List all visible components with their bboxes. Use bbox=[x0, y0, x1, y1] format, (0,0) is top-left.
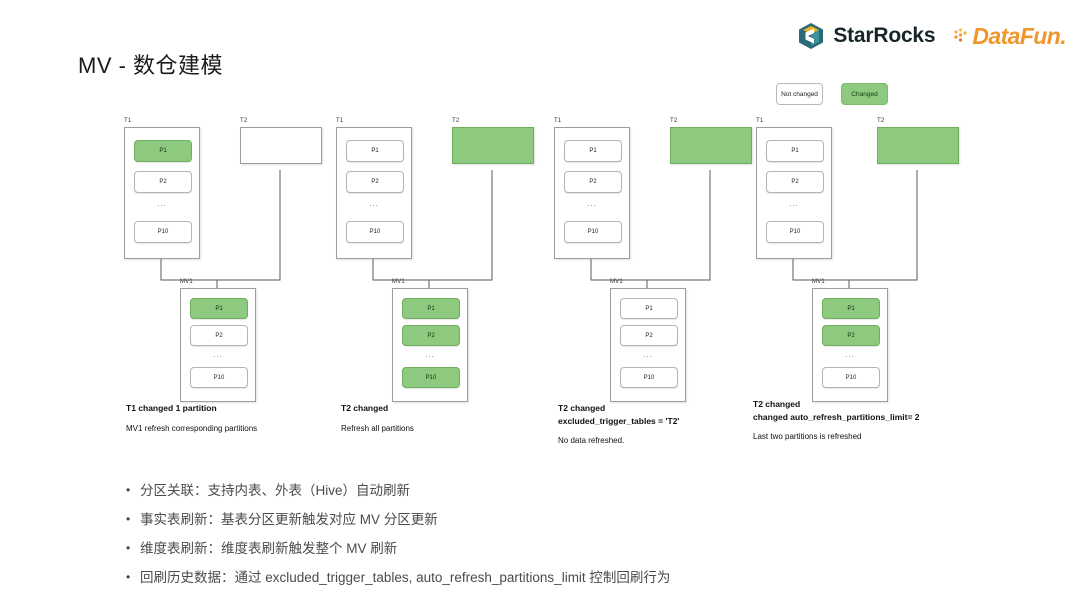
caption-sub-3: No data refreshed. bbox=[558, 436, 679, 445]
legend-changed: Changed bbox=[841, 83, 888, 105]
caption-3: T2 changed excluded_trigger_tables = 'T2… bbox=[558, 402, 679, 445]
t1-partition-p1-2: P1 bbox=[346, 140, 404, 162]
caption-title-line2-3: excluded_trigger_tables = 'T2' bbox=[558, 415, 679, 428]
caption-1: T1 changed 1 partition MV1 refresh corre… bbox=[126, 402, 257, 433]
diagram-panel-2: T1 P1 P2 ... P10 T2 MV1 P1 P2 ... P10 bbox=[322, 118, 534, 408]
t1-partition-p1-3: P1 bbox=[564, 140, 622, 162]
bullet-text-1: 分区关联：支持内表、外表（Hive）自动刷新 bbox=[140, 482, 410, 499]
bullet-marker-icon-3: • bbox=[126, 540, 140, 557]
starrocks-wordmark: StarRocks bbox=[833, 24, 935, 48]
diagram-panel-1: T1 P1 P2 ... P10 T2 MV1 P1 P2 ... P10 bbox=[110, 118, 322, 408]
mv1-partition-p2-4: P2 bbox=[822, 325, 880, 346]
t2-table-2 bbox=[452, 127, 534, 164]
t1-table-2: P1 P2 ... P10 bbox=[336, 127, 412, 259]
logo-group: StarRocks DataFun. bbox=[797, 22, 1066, 50]
t1-label-2: T1 bbox=[336, 118, 343, 124]
mv1-partition-p10-3: P10 bbox=[620, 367, 678, 388]
mv1-partition-p2-2: P2 bbox=[402, 325, 460, 346]
caption-title-2: T2 changed bbox=[341, 402, 414, 415]
bullet-text-4: 回刷历史数据：通过 excluded_trigger_tables, auto_… bbox=[140, 569, 670, 586]
t1-table-3: P1 P2 ... P10 bbox=[554, 127, 630, 259]
legend: Not changed Changed bbox=[776, 83, 888, 105]
mv1-partition-p2-1: P2 bbox=[190, 325, 248, 346]
mv1-ellipsis-1: ... bbox=[190, 349, 246, 361]
bullet-text-3: 维度表刷新：维度表刷新触发整个 MV 刷新 bbox=[140, 540, 397, 557]
bullet-marker-icon-4: • bbox=[126, 569, 140, 586]
mv1-table-4: P1 P2 ... P10 bbox=[812, 288, 888, 402]
bullet-item-1: • 分区关联：支持内表、外表（Hive）自动刷新 bbox=[126, 482, 670, 499]
mv1-partition-p10-1: P10 bbox=[190, 367, 248, 388]
t2-label-2: T2 bbox=[452, 118, 459, 124]
datafun-dots-icon bbox=[953, 27, 969, 45]
starrocks-mark-icon bbox=[797, 22, 825, 50]
mv1-label-1: MV1 bbox=[180, 279, 193, 285]
caption-2: T2 changed Refresh all partitions bbox=[341, 402, 414, 433]
t1-partition-p10-1: P10 bbox=[134, 221, 192, 243]
t1-partition-p10-3: P10 bbox=[564, 221, 622, 243]
caption-title-1: T1 changed 1 partition bbox=[126, 402, 257, 415]
caption-title-4: T2 changed bbox=[753, 398, 920, 411]
caption-sub-2: Refresh all partitions bbox=[341, 424, 414, 433]
t2-label-4: T2 bbox=[877, 118, 884, 124]
caption-title-line2-4: changed auto_refresh_partitions_limit= 2 bbox=[753, 411, 920, 424]
mv1-partition-p1-3: P1 bbox=[620, 298, 678, 319]
mv1-table-2: P1 P2 ... P10 bbox=[392, 288, 468, 402]
mv1-partition-p1-4: P1 bbox=[822, 298, 880, 319]
page-title: MV - 数仓建模 bbox=[78, 48, 223, 80]
diagram-panel-4: T1 P1 P2 ... P10 T2 MV1 P1 P2 ... P10 bbox=[742, 118, 954, 408]
t2-label-3: T2 bbox=[670, 118, 677, 124]
t1-ellipsis-1: ... bbox=[134, 198, 190, 210]
diagram-panel-3: T1 P1 P2 ... P10 T2 MV1 P1 P2 ... P10 bbox=[540, 118, 752, 408]
mv1-partition-p10-2: P10 bbox=[402, 367, 460, 388]
mv1-ellipsis-3: ... bbox=[620, 349, 676, 361]
t1-label-4: T1 bbox=[756, 118, 763, 124]
mv1-label-2: MV1 bbox=[392, 279, 405, 285]
legend-not-changed: Not changed bbox=[776, 83, 823, 105]
bullet-item-4: • 回刷历史数据：通过 excluded_trigger_tables, aut… bbox=[126, 569, 670, 586]
mv1-ellipsis-4: ... bbox=[822, 349, 878, 361]
bullet-marker-icon-1: • bbox=[126, 482, 140, 499]
t1-ellipsis-2: ... bbox=[346, 198, 402, 210]
mv1-table-1: P1 P2 ... P10 bbox=[180, 288, 256, 402]
t2-table-3 bbox=[670, 127, 752, 164]
mv1-table-3: P1 P2 ... P10 bbox=[610, 288, 686, 402]
t1-label-3: T1 bbox=[554, 118, 561, 124]
mv1-partition-p1-2: P1 bbox=[402, 298, 460, 319]
caption-4: T2 changed changed auto_refresh_partitio… bbox=[753, 398, 920, 441]
bullet-item-2: • 事实表刷新：基表分区更新触发对应 MV 分区更新 bbox=[126, 511, 670, 528]
mv1-ellipsis-2: ... bbox=[402, 349, 458, 361]
t1-partition-p2-2: P2 bbox=[346, 171, 404, 193]
caption-title-3: T2 changed bbox=[558, 402, 679, 415]
t1-label-1: T1 bbox=[124, 118, 131, 124]
t1-partition-p2-4: P2 bbox=[766, 171, 824, 193]
t1-partition-p10-2: P10 bbox=[346, 221, 404, 243]
bullet-item-3: • 维度表刷新：维度表刷新触发整个 MV 刷新 bbox=[126, 540, 670, 557]
mv1-partition-p2-3: P2 bbox=[620, 325, 678, 346]
slide-root: MV - 数仓建模 StarRocks bbox=[0, 0, 1080, 607]
t2-table-4 bbox=[877, 127, 959, 164]
t2-label-1: T2 bbox=[240, 118, 247, 124]
t1-partition-p1-4: P1 bbox=[766, 140, 824, 162]
caption-sub-4: Last two partitions is refreshed bbox=[753, 432, 920, 441]
mv1-label-4: MV1 bbox=[812, 279, 825, 285]
bullet-marker-icon-2: • bbox=[126, 511, 140, 528]
t1-partition-p2-3: P2 bbox=[564, 171, 622, 193]
mv1-label-3: MV1 bbox=[610, 279, 623, 285]
starrocks-logo: StarRocks bbox=[797, 22, 935, 50]
mv1-partition-p1-1: P1 bbox=[190, 298, 248, 319]
bullet-text-2: 事实表刷新：基表分区更新触发对应 MV 分区更新 bbox=[140, 511, 438, 528]
t1-ellipsis-4: ... bbox=[766, 198, 822, 210]
caption-sub-1: MV1 refresh corresponding partitions bbox=[126, 424, 257, 433]
t1-ellipsis-3: ... bbox=[564, 198, 620, 210]
t1-table-1: P1 P2 ... P10 bbox=[124, 127, 200, 259]
t1-partition-p2-1: P2 bbox=[134, 171, 192, 193]
datafun-wordmark: DataFun. bbox=[972, 23, 1066, 50]
mv1-partition-p10-4: P10 bbox=[822, 367, 880, 388]
t2-table-1 bbox=[240, 127, 322, 164]
t1-table-4: P1 P2 ... P10 bbox=[756, 127, 832, 259]
bullet-list: • 分区关联：支持内表、外表（Hive）自动刷新 • 事实表刷新：基表分区更新触… bbox=[126, 482, 670, 598]
t1-partition-p1-1: P1 bbox=[134, 140, 192, 162]
datafun-logo: DataFun. bbox=[953, 23, 1066, 50]
t1-partition-p10-4: P10 bbox=[766, 221, 824, 243]
